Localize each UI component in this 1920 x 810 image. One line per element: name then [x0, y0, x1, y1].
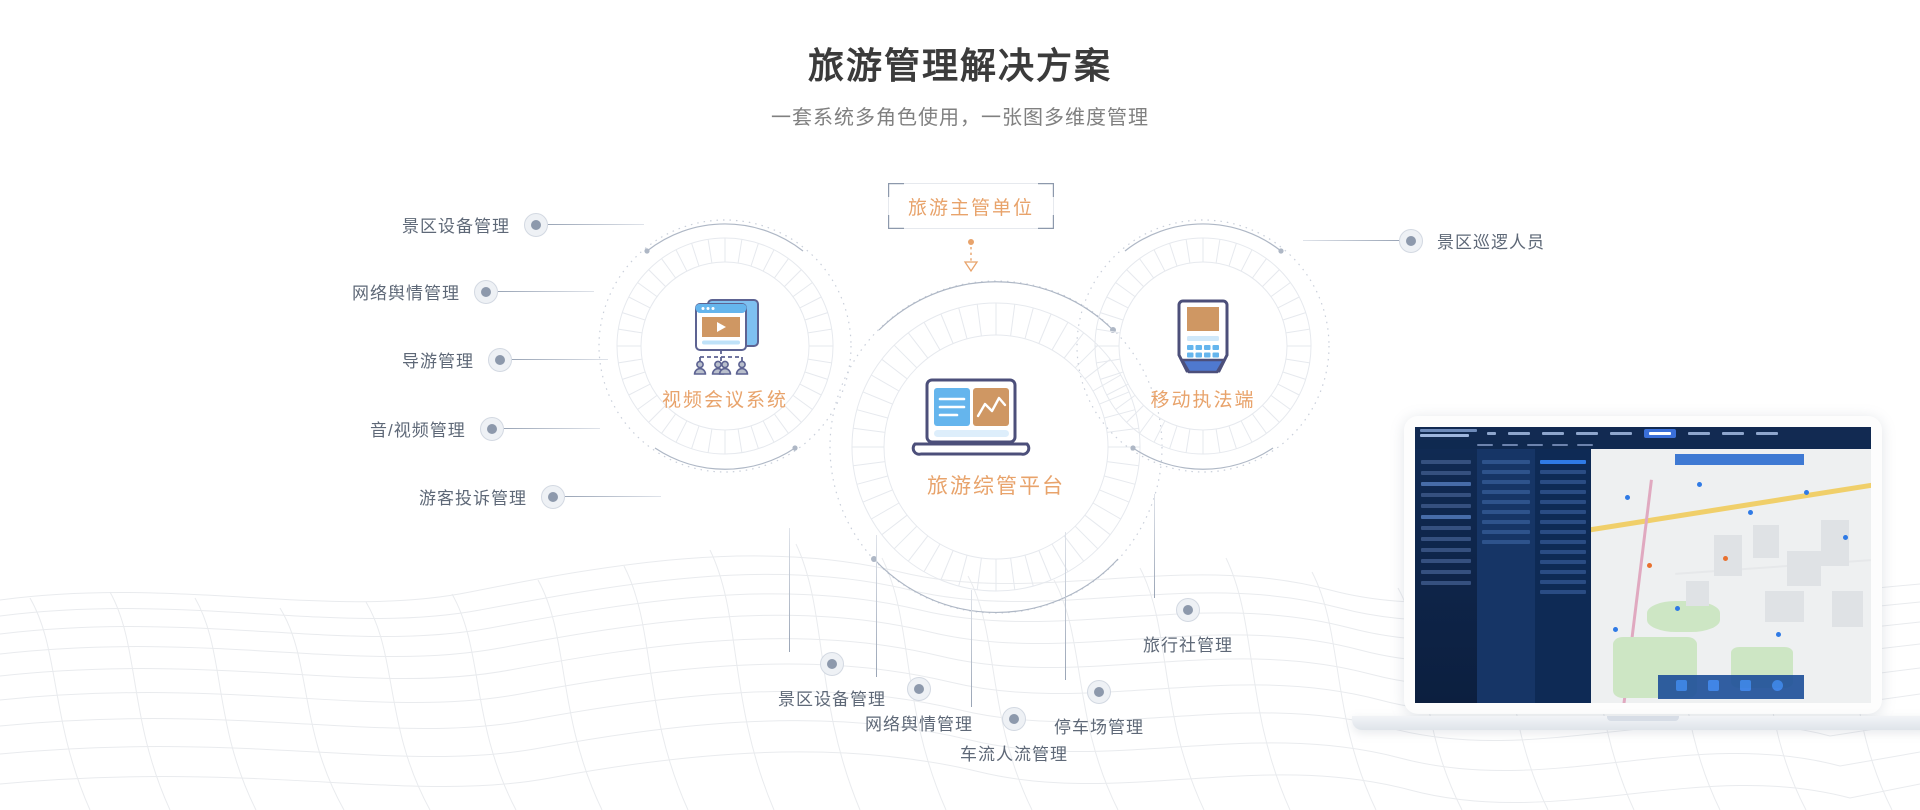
laptop-mockup	[1352, 416, 1920, 736]
map-green-area	[1647, 601, 1720, 631]
tree-node[interactable]	[1482, 480, 1530, 484]
map-building-block	[1787, 551, 1821, 587]
lead-dot-icon[interactable]	[480, 417, 504, 441]
lead-dot-icon[interactable]	[541, 485, 565, 509]
layer-item[interactable]	[1540, 550, 1586, 554]
dock-icon[interactable]	[1708, 680, 1719, 691]
dock-icon[interactable]	[1740, 680, 1751, 691]
lead-connector-line-vertical	[876, 535, 877, 677]
lead-dot-icon[interactable]	[1399, 229, 1423, 253]
menu-item-active-label	[1649, 432, 1671, 435]
authority-down-arrow-icon	[956, 238, 986, 274]
tab-chip[interactable]	[1527, 444, 1543, 446]
map-building-block	[1686, 581, 1708, 606]
layer-item[interactable]	[1540, 490, 1586, 494]
lead-bottom-2[interactable]: 车流人流管理	[960, 707, 1068, 765]
lead-connector-line	[548, 224, 644, 225]
layer-item[interactable]	[1540, 590, 1586, 594]
node-label-mobile-enforcement: 移动执法端	[1073, 385, 1333, 412]
map-building-block	[1714, 535, 1742, 576]
lead-left-label-4: 游客投诉管理	[419, 484, 527, 509]
dashboard-topbar	[1415, 427, 1871, 440]
menu-hamburger-icon[interactable]	[1487, 432, 1496, 435]
node-label-tourism-platform: 旅游综管平台	[826, 470, 1166, 500]
map-marker-pin[interactable]	[1776, 632, 1781, 637]
dashboard-tabbar[interactable]	[1415, 440, 1871, 449]
page-title: 旅游管理解决方案	[0, 42, 1920, 90]
layer-item[interactable]	[1540, 530, 1586, 534]
sidebar-item-active[interactable]	[1421, 515, 1471, 519]
sidebar-item[interactable]	[1421, 548, 1471, 552]
sidebar-item[interactable]	[1421, 460, 1471, 464]
map-bottom-dock[interactable]	[1658, 675, 1804, 699]
lead-connector-line-vertical	[1065, 532, 1066, 680]
sidebar-item[interactable]	[1421, 526, 1471, 530]
tab-chip[interactable]	[1552, 444, 1568, 446]
lead-left-label-3: 音/视频管理	[370, 416, 466, 441]
layer-item[interactable]	[1540, 520, 1586, 524]
lead-bottom-label-2: 车流人流管理	[960, 740, 1068, 765]
map-marker-pin[interactable]	[1697, 482, 1702, 487]
sidebar-item[interactable]	[1421, 570, 1471, 574]
dashboard-area-tree-panel[interactable]	[1477, 449, 1535, 703]
tab-chip[interactable]	[1577, 444, 1593, 446]
authority-box[interactable]: 旅游主管单位	[888, 183, 1054, 229]
lead-dot-icon[interactable]	[474, 280, 498, 304]
menu-item[interactable]	[1688, 432, 1710, 435]
dock-icon[interactable]	[1676, 680, 1687, 691]
tree-node[interactable]	[1482, 520, 1530, 524]
layer-item[interactable]	[1540, 510, 1586, 514]
map-building-block	[1832, 591, 1863, 627]
lead-left-label-1: 网络舆情管理	[352, 279, 460, 304]
lead-connector-line-vertical	[789, 528, 790, 652]
menu-item[interactable]	[1508, 432, 1530, 435]
dashboard-sidebar[interactable]	[1415, 449, 1477, 703]
map-marker-pin[interactable]	[1613, 627, 1618, 632]
lead-left-3[interactable]: 音/视频管理	[370, 416, 600, 441]
lead-dot-icon[interactable]	[907, 677, 931, 701]
page-root: 旅游管理解决方案 一套系统多角色使用，一张图多维度管理 旅游主管单位	[0, 0, 1920, 810]
lead-bottom-label-1: 网络舆情管理	[865, 710, 973, 735]
lead-connector-line	[498, 291, 594, 292]
page-header: 旅游管理解决方案 一套系统多角色使用，一张图多维度管理	[0, 42, 1920, 132]
node-label-video-conference: 视频会议系统	[595, 385, 855, 412]
map-building-block	[1821, 520, 1849, 566]
authority-box-label: 旅游主管单位	[908, 193, 1034, 220]
lead-dot-icon[interactable]	[1087, 680, 1111, 704]
map-toolbar[interactable]	[1675, 454, 1804, 465]
lead-left-2[interactable]: 导游管理	[402, 347, 608, 372]
layer-item-active[interactable]	[1540, 460, 1586, 464]
handheld-terminal-icon	[1169, 298, 1237, 378]
map-marker-pin[interactable]	[1625, 495, 1630, 500]
lead-connector-line	[565, 496, 661, 497]
dashboard-logo	[1415, 429, 1477, 439]
lead-bottom-label-3: 停车场管理	[1054, 713, 1144, 738]
layer-item[interactable]	[1540, 540, 1586, 544]
layer-item[interactable]	[1540, 580, 1586, 584]
laptop-body	[1404, 416, 1882, 714]
map-marker-pin[interactable]	[1804, 490, 1809, 495]
lead-left-0[interactable]: 景区设备管理	[402, 212, 644, 237]
dashboard-map-canvas[interactable]	[1591, 449, 1871, 703]
lead-bottom-1[interactable]: 网络舆情管理	[865, 677, 973, 735]
laptop-dashboard-icon	[909, 378, 1033, 460]
lead-bottom-4[interactable]: 旅行社管理	[1143, 598, 1233, 656]
page-subtitle: 一套系统多角色使用，一张图多维度管理	[0, 104, 1920, 132]
lead-connector-line	[504, 428, 600, 429]
lead-connector-line-vertical	[971, 590, 972, 707]
layer-item[interactable]	[1540, 470, 1586, 474]
sidebar-item[interactable]	[1421, 581, 1471, 585]
dashboard-main	[1415, 449, 1871, 703]
dashboard-menu[interactable]	[1477, 429, 1778, 438]
menu-item[interactable]	[1542, 432, 1564, 435]
map-building-block	[1753, 525, 1778, 558]
map-building-block	[1765, 591, 1804, 621]
sidebar-item-active[interactable]	[1421, 482, 1471, 486]
menu-item-active[interactable]	[1644, 429, 1676, 438]
tree-node[interactable]	[1482, 540, 1530, 544]
video-window-icon	[686, 297, 766, 375]
laptop-screen	[1415, 427, 1871, 703]
lead-left-4[interactable]: 游客投诉管理	[419, 484, 661, 509]
lead-right-0[interactable]: 景区巡逻人员	[1303, 228, 1545, 253]
lead-dot-icon[interactable]	[1002, 707, 1026, 731]
lead-dot-icon[interactable]	[524, 213, 548, 237]
lead-bottom-3[interactable]: 停车场管理	[1054, 680, 1144, 738]
sidebar-item[interactable]	[1421, 537, 1471, 541]
tab-chip[interactable]	[1502, 444, 1518, 446]
sidebar-item[interactable]	[1421, 493, 1471, 497]
layer-item[interactable]	[1540, 570, 1586, 574]
laptop-base-notch	[1607, 716, 1679, 721]
layer-item[interactable]	[1540, 560, 1586, 564]
sidebar-item[interactable]	[1421, 559, 1471, 563]
tree-node[interactable]	[1482, 470, 1530, 474]
menu-item[interactable]	[1576, 432, 1598, 435]
lead-right-label-0: 景区巡逻人员	[1437, 228, 1545, 253]
tab-chip[interactable]	[1477, 444, 1493, 446]
lead-left-1[interactable]: 网络舆情管理	[352, 279, 594, 304]
sidebar-item[interactable]	[1421, 471, 1471, 475]
lead-connector-line	[1303, 240, 1399, 241]
lead-connector-line-vertical	[1154, 494, 1155, 598]
lead-bottom-label-4: 旅行社管理	[1143, 631, 1233, 656]
tree-node[interactable]	[1482, 510, 1530, 514]
tree-node[interactable]	[1482, 500, 1530, 504]
lead-dot-icon[interactable]	[488, 348, 512, 372]
menu-item[interactable]	[1722, 432, 1744, 435]
dock-icon[interactable]	[1772, 680, 1783, 691]
map-marker-pin-alert[interactable]	[1647, 563, 1652, 568]
dashboard-layer-panel[interactable]	[1535, 449, 1591, 703]
lead-dot-icon[interactable]	[1176, 598, 1200, 622]
tree-node[interactable]	[1482, 530, 1530, 534]
layer-item[interactable]	[1540, 500, 1586, 504]
map-marker-pin-alert[interactable]	[1723, 556, 1728, 561]
lead-dot-icon[interactable]	[820, 652, 844, 676]
map-marker-pin[interactable]	[1748, 510, 1753, 515]
menu-item[interactable]	[1756, 432, 1778, 435]
lead-left-label-0: 景区设备管理	[402, 212, 510, 237]
lead-left-label-2: 导游管理	[402, 347, 474, 372]
layer-item[interactable]	[1540, 480, 1586, 484]
tree-node[interactable]	[1482, 460, 1530, 464]
menu-item[interactable]	[1610, 432, 1632, 435]
tree-node[interactable]	[1482, 490, 1530, 494]
lead-connector-line	[512, 359, 608, 360]
gis-dashboard	[1415, 427, 1871, 703]
sidebar-item[interactable]	[1421, 504, 1471, 508]
